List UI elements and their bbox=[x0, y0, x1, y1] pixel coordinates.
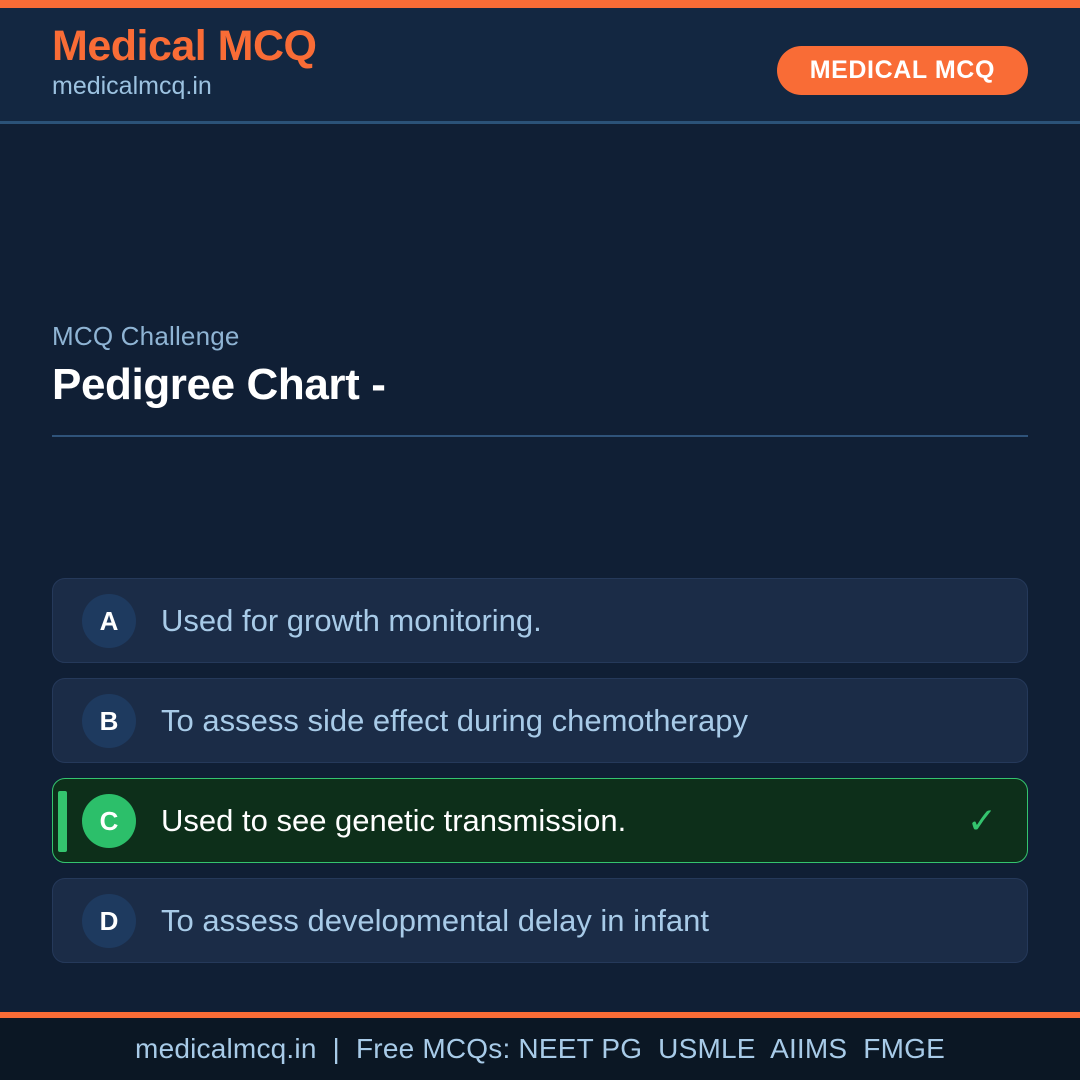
title-divider bbox=[52, 435, 1028, 437]
brand-subtitle: medicalmcq.in bbox=[52, 71, 317, 101]
option-letter-badge-c: C bbox=[82, 794, 136, 848]
brand-title: Medical MCQ bbox=[52, 22, 317, 70]
question-title: Pedigree Chart - bbox=[52, 357, 1028, 412]
app-header: Medical MCQ medicalmcq.in MEDICAL MCQ bbox=[0, 8, 1080, 124]
option-letter-badge-a: A bbox=[82, 594, 136, 648]
question-kicker: MCQ Challenge bbox=[52, 320, 1028, 353]
option-row-b[interactable]: B To assess side effect during chemother… bbox=[52, 678, 1028, 763]
top-accent-bar bbox=[0, 0, 1080, 8]
correct-accent-bar bbox=[58, 791, 67, 852]
app-footer: medicalmcq.in | Free MCQs: NEET PG USMLE… bbox=[0, 1012, 1080, 1080]
option-text-b: To assess side effect during chemotherap… bbox=[161, 702, 997, 739]
option-text-a: Used for growth monitoring. bbox=[161, 602, 997, 639]
footer-text: medicalmcq.in | Free MCQs: NEET PG USMLE… bbox=[135, 1035, 945, 1063]
brand-block: Medical MCQ medicalmcq.in bbox=[52, 22, 317, 101]
option-letter-badge-d: D bbox=[82, 894, 136, 948]
option-row-a[interactable]: A Used for growth monitoring. bbox=[52, 578, 1028, 663]
option-text-c: Used to see genetic transmission. bbox=[161, 802, 955, 839]
option-row-c[interactable]: C Used to see genetic transmission. ✓ bbox=[52, 778, 1028, 863]
option-text-d: To assess developmental delay in infant bbox=[161, 902, 997, 939]
main-content: MCQ Challenge Pedigree Chart - A Used fo… bbox=[0, 127, 1080, 1012]
header-badge[interactable]: MEDICAL MCQ bbox=[777, 46, 1028, 95]
check-icon: ✓ bbox=[967, 803, 997, 839]
option-letter-badge-b: B bbox=[82, 694, 136, 748]
question-block: MCQ Challenge Pedigree Chart - bbox=[52, 320, 1028, 437]
options-list: A Used for growth monitoring. B To asses… bbox=[52, 578, 1028, 978]
option-row-d[interactable]: D To assess developmental delay in infan… bbox=[52, 878, 1028, 963]
